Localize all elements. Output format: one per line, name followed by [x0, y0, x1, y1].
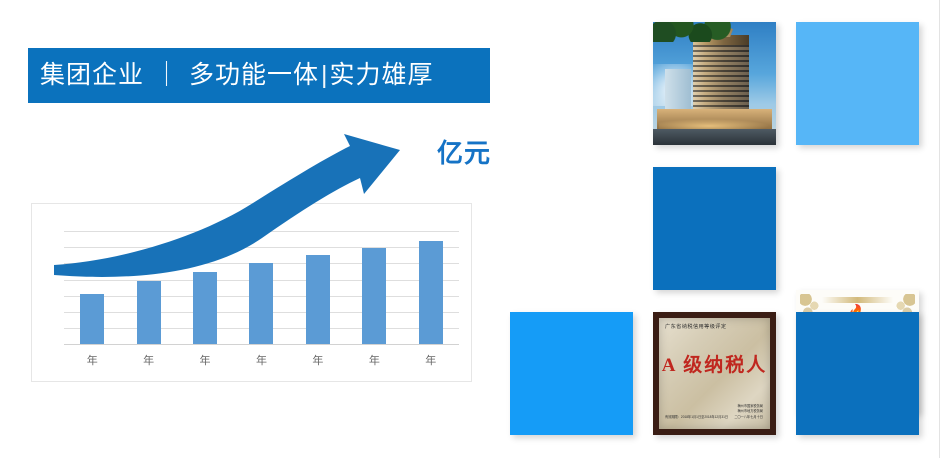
plaque-footer-left: 有效期限：2018年1月1日至2018年12月31日 — [665, 415, 728, 420]
plaque-heading: 广东省纳税信用等级评定 — [665, 325, 726, 330]
plaque-plate: 广东省纳税信用等级评定 A 级纳税人 有效期限：2018年1月1日至2018年1… — [659, 318, 770, 429]
growth-bar-chart: 年年年年年年年 — [31, 203, 472, 382]
plaque-issue-date: 二〇一八年七月十日 — [734, 415, 763, 420]
chart-plot-area — [64, 215, 459, 344]
chart-x-label: 年 — [249, 356, 273, 367]
banner-separator-1: ｜ — [144, 63, 189, 88]
chart-bar — [193, 272, 217, 344]
chart-bar — [419, 241, 443, 344]
photo-street — [653, 129, 776, 145]
chart-x-label: 年 — [362, 356, 386, 367]
banner-separator-2: | — [319, 63, 330, 88]
left-panel: 集团企业 ｜ 多功能一体 | 实力雄厚 亿元 年年年年年年年 — [0, 0, 500, 458]
chart-axis-baseline — [64, 344, 459, 345]
page-root: 集团企业 ｜ 多功能一体 | 实力雄厚 亿元 年年年年年年年 — [0, 0, 940, 458]
banner-text-multifunction: 多功能一体 — [189, 63, 319, 88]
chart-x-label: 年 — [419, 356, 443, 367]
headline-banner: 集团企业 ｜ 多功能一体 | 实力雄厚 — [28, 48, 490, 103]
tile-building-photo[interactable] — [653, 22, 776, 145]
tile-swatch-light-blue-top-right[interactable] — [796, 22, 919, 145]
image-gallery: 🔥 高新技术企业 证书 企业名称：广东华中科技股份有限公司 证书编号：GR201… — [505, 15, 940, 447]
banner-text-strength: 实力雄厚 — [330, 63, 434, 88]
chart-bar — [362, 248, 386, 344]
plaque-issuer-2: 梅州市地方税务局 — [734, 409, 763, 414]
chart-x-label: 年 — [80, 356, 104, 367]
chart-x-axis-labels: 年年年年年年年 — [64, 353, 459, 369]
tile-swatch-dark-blue-bottom-right[interactable] — [796, 312, 919, 435]
photo-foliage — [653, 22, 733, 42]
plaque-footer-right: 梅州市国家税务局 梅州市地方税务局 二〇一八年七月十日 — [734, 404, 763, 420]
chart-bar — [137, 281, 161, 344]
tile-swatch-bright-blue-bottom-left[interactable] — [510, 312, 633, 435]
chart-unit-label: 亿元 — [437, 140, 491, 166]
banner-text-group-enterprise: 集团企业 — [40, 63, 144, 88]
chart-x-label: 年 — [306, 356, 330, 367]
chart-bar — [306, 255, 330, 344]
chart-bar-series — [64, 215, 459, 344]
certificate-top-rule — [822, 297, 893, 303]
tile-swatch-dark-blue-middle[interactable] — [653, 167, 776, 290]
plaque-grade-text: A 级纳税人 — [659, 356, 770, 375]
chart-bar — [249, 263, 273, 344]
chart-bar — [80, 294, 104, 344]
tile-plaque-tax-a-grade[interactable]: 广东省纳税信用等级评定 A 级纳税人 有效期限：2018年1月1日至2018年1… — [653, 312, 776, 435]
chart-x-label: 年 — [193, 356, 217, 367]
chart-x-label: 年 — [137, 356, 161, 367]
